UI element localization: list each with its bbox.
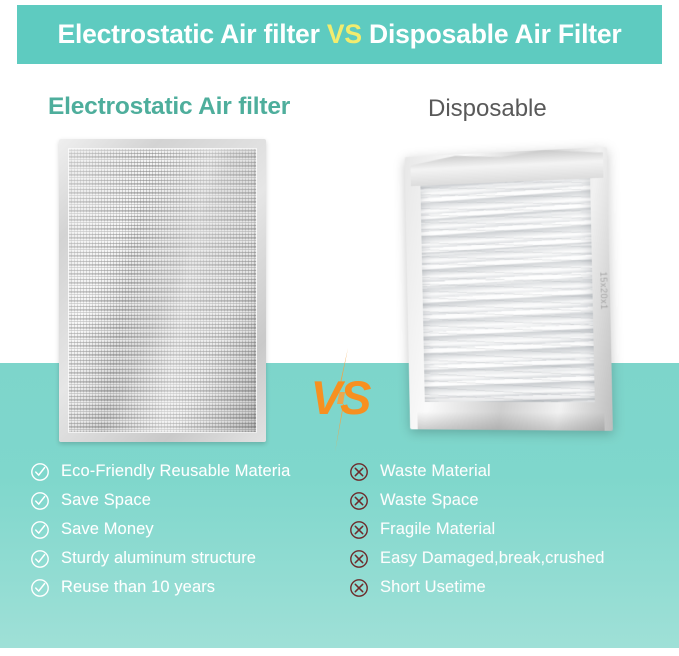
cons-list: Waste Material Waste Space Fragile Mater… xyxy=(349,457,669,602)
cons-item-label: Waste Space xyxy=(380,491,479,510)
pros-item-label: Eco-Friendly Reusable Materia xyxy=(61,462,290,481)
electrostatic-filter-sheen xyxy=(68,148,257,433)
vs-badge-label: VS xyxy=(302,374,378,421)
banner-title: Electrostatic Air filter VS Disposable A… xyxy=(57,19,621,50)
x-circle-icon xyxy=(349,578,369,598)
disposable-filter-image: 15x20x1 xyxy=(405,147,613,431)
disposable-filter-side-label: 15x20x1 xyxy=(595,272,610,360)
check-circle-icon xyxy=(30,578,50,598)
check-circle-icon xyxy=(30,491,50,511)
vs-badge: VS xyxy=(302,352,378,448)
banner-vs-label: VS xyxy=(327,19,362,49)
list-item: Reuse than 10 years xyxy=(30,573,350,602)
pros-item-label: Save Money xyxy=(61,520,154,539)
cons-item-label: Fragile Material xyxy=(380,520,495,539)
cons-item-label: Easy Damaged,break,crushed xyxy=(380,549,605,568)
list-item: Save Money xyxy=(30,515,350,544)
bottom-white-strip xyxy=(0,648,679,656)
pros-item-label: Save Space xyxy=(61,491,151,510)
x-circle-icon xyxy=(349,491,369,511)
comparison-infographic: Electrostatic Air filter VS Disposable A… xyxy=(0,0,679,656)
electrostatic-filter-image xyxy=(59,139,266,442)
banner-title-part2: Disposable Air Filter xyxy=(362,19,622,49)
x-circle-icon xyxy=(349,462,369,482)
list-item: Sturdy aluminum structure xyxy=(30,544,350,573)
banner-title-part1: Electrostatic Air filter xyxy=(57,19,326,49)
x-circle-icon xyxy=(349,520,369,540)
header-banner: Electrostatic Air filter VS Disposable A… xyxy=(17,5,662,64)
right-column-heading: Disposable xyxy=(428,95,547,123)
list-item: Save Space xyxy=(30,486,350,515)
check-circle-icon xyxy=(30,520,50,540)
list-item: Eco-Friendly Reusable Materia xyxy=(30,457,350,486)
pros-item-label: Reuse than 10 years xyxy=(61,578,215,597)
list-item: Short Usetime xyxy=(349,573,669,602)
pros-item-label: Sturdy aluminum structure xyxy=(61,549,256,568)
disposable-filter-bottom-shadow xyxy=(417,412,604,431)
disposable-filter-fibers xyxy=(420,174,594,402)
check-circle-icon xyxy=(30,462,50,482)
left-column-heading: Electrostatic Air filter xyxy=(48,93,290,121)
disposable-filter-media xyxy=(420,174,594,402)
pros-list: Eco-Friendly Reusable Materia Save Space… xyxy=(30,457,350,602)
electrostatic-filter-mesh xyxy=(68,148,257,433)
x-circle-icon xyxy=(349,549,369,569)
list-item: Waste Space xyxy=(349,486,669,515)
list-item: Easy Damaged,break,crushed xyxy=(349,544,669,573)
list-item: Fragile Material xyxy=(349,515,669,544)
cons-item-label: Waste Material xyxy=(380,462,491,481)
cons-item-label: Short Usetime xyxy=(380,578,486,597)
list-item: Waste Material xyxy=(349,457,669,486)
check-circle-icon xyxy=(30,549,50,569)
